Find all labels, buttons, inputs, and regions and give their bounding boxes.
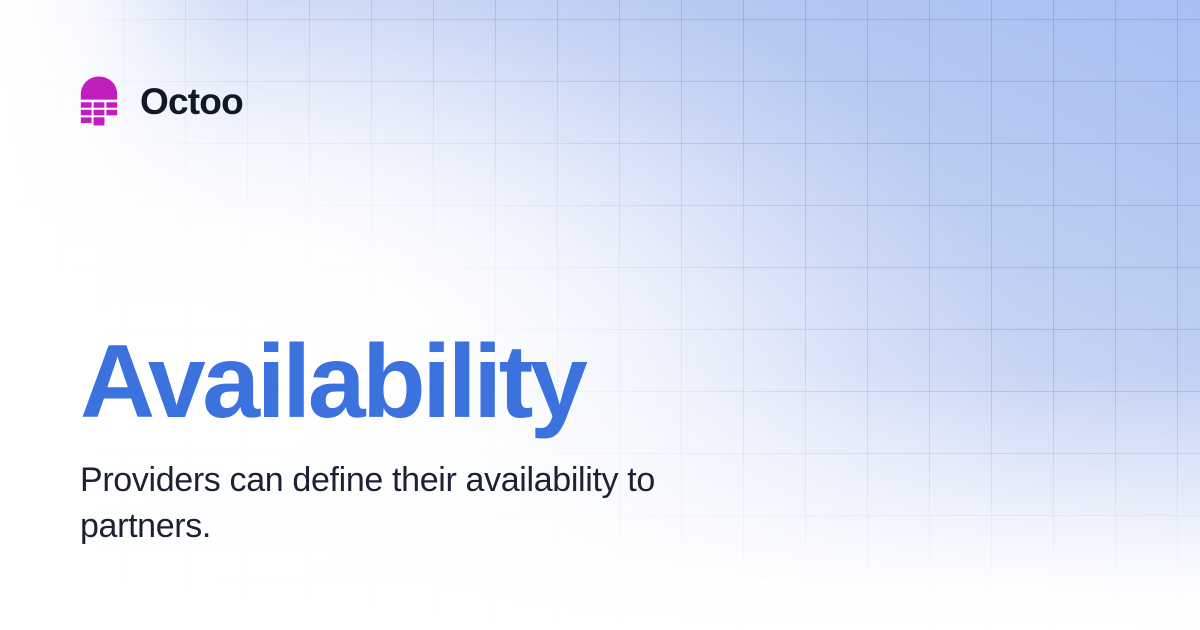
octopus-logo-icon <box>80 76 118 126</box>
card-content: Octoo Availability Providers can define … <box>0 0 1200 630</box>
og-card: Octoo Availability Providers can define … <box>0 0 1200 630</box>
page-subtitle: Providers can define their availability … <box>80 458 770 549</box>
page-title: Availability <box>80 330 1080 434</box>
brand-name: Octoo <box>140 83 243 120</box>
brand-lockup[interactable]: Octoo <box>80 76 243 126</box>
headline-block: Availability Providers can define their … <box>80 330 1080 549</box>
